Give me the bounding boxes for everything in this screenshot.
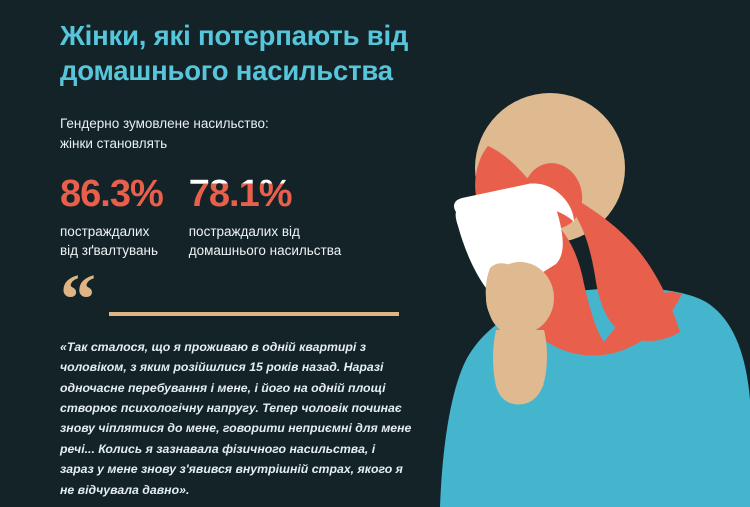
statistics-group: 86.3% постраждалих від зґвалтувань 78.1%… bbox=[60, 154, 460, 260]
subtitle-line-2: жінки становлять bbox=[60, 134, 460, 154]
braid-lobe-upper bbox=[486, 262, 554, 334]
ear-shape bbox=[518, 158, 588, 235]
stat-label-rape: постраждалих від зґвалтувань bbox=[60, 213, 163, 260]
stat-label-domestic-line-1: постраждалих від bbox=[189, 224, 300, 239]
shirt-shape bbox=[440, 288, 750, 507]
braid-tip-shape bbox=[496, 382, 544, 405]
stat-value-rape: 86.3% bbox=[60, 175, 163, 213]
stat-label-rape-line-2: від зґвалтувань bbox=[60, 243, 158, 258]
braid-lower-shape bbox=[493, 330, 547, 404]
quote-header: “ bbox=[60, 286, 460, 322]
forehead-shape bbox=[475, 146, 548, 242]
quotation-mark-icon: “ bbox=[60, 277, 94, 322]
stat-domestic-violence-victims: 78.1% постраждалих від домашнього насиль… bbox=[189, 175, 342, 260]
quote-divider-rule bbox=[109, 312, 399, 316]
stat-value-domestic: 78.1% bbox=[189, 175, 342, 213]
jaw-neck-mass bbox=[518, 176, 680, 341]
woman-profile-with-mask-illustration bbox=[420, 0, 750, 507]
quote-text: «Так сталося, що я проживаю в одній квар… bbox=[60, 322, 412, 500]
page-title: Жінки, які потерпають від домашнього нас… bbox=[60, 0, 450, 88]
stat-label-domestic-line-2: домашнього насильства bbox=[189, 243, 342, 258]
hair-strand-shape bbox=[486, 263, 539, 336]
mask-strap-shape bbox=[528, 184, 574, 223]
stat-label-rape-line-1: постраждалих bbox=[60, 224, 149, 239]
subtitle-block: Гендерно зумовлене насильство: жінки ста… bbox=[60, 88, 460, 153]
stat-label-domestic: постраждалих від домашнього насильства bbox=[189, 213, 342, 260]
neck-shape bbox=[476, 160, 682, 356]
face-mask-shape bbox=[454, 183, 563, 296]
text-content-column: Жінки, які потерпають від домашнього нас… bbox=[60, 0, 460, 507]
subtitle-line-1: Гендерно зумовлене насильство: bbox=[60, 114, 460, 134]
infographic-poster: Жінки, які потерпають від домашнього нас… bbox=[0, 0, 750, 507]
stat-rape-victims: 86.3% постраждалих від зґвалтувань bbox=[60, 175, 163, 260]
quote-attribution: Ольга, 65 років, Чернівецька область bbox=[60, 500, 460, 507]
testimonial-quote-block: “ «Так сталося, що я проживаю в одній кв… bbox=[60, 260, 460, 507]
hair-bun-shape bbox=[475, 93, 625, 243]
